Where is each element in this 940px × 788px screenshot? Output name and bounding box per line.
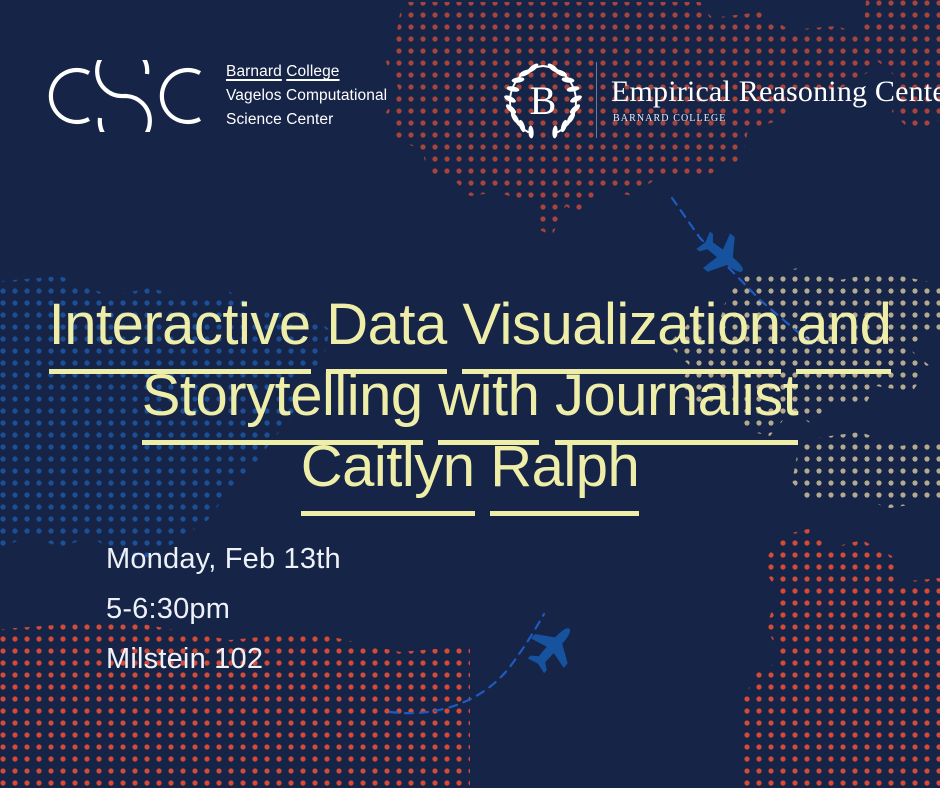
- erc-logo: B Empirical Reasoning Center BARNARD COL…: [500, 57, 940, 143]
- erc-text-block: Empirical Reasoning Center BARNARD COLLE…: [611, 75, 940, 125]
- headline-line-1: Interactive Data Visualization and: [0, 292, 940, 363]
- headline-word: Storytelling: [142, 363, 423, 445]
- event-poster: Barnard College Vagelos Computational Sc…: [0, 0, 940, 788]
- erc-subtitle: BARNARD COLLEGE: [613, 113, 940, 125]
- headline-word: Journalist: [555, 363, 798, 445]
- headline-word: Data: [326, 292, 447, 374]
- erc-title: Empirical Reasoning Center: [611, 75, 940, 109]
- csc-barnard-word: Barnard: [226, 63, 282, 80]
- csc-barnard-college-line: Barnard College: [226, 62, 387, 82]
- csc-logo: Barnard College Vagelos Computational Sc…: [34, 60, 387, 132]
- headline-word: Ralph: [490, 434, 639, 516]
- event-details: Monday, Feb 13th 5-6:30pm Milstein 102: [106, 534, 341, 684]
- poster-header: Barnard College Vagelos Computational Sc…: [0, 0, 940, 160]
- headline-word: and: [796, 292, 891, 374]
- csc-name-line-1: Vagelos Computational: [226, 85, 387, 106]
- event-time: 5-6:30pm: [106, 584, 341, 634]
- csc-wordmark: Barnard College Vagelos Computational Sc…: [226, 62, 387, 130]
- airplane-lower: [520, 614, 586, 681]
- erc-monogram-letter: B: [530, 78, 557, 123]
- headline-word: Visualization: [462, 292, 780, 374]
- laurel-wreath-icon: B: [500, 57, 586, 143]
- flight-path-lower: [390, 614, 544, 713]
- headline-word: with: [438, 363, 539, 445]
- erc-divider: [596, 62, 597, 138]
- csc-college-word: College: [286, 63, 339, 80]
- headline-word: Caitlyn: [301, 434, 475, 516]
- airplane-upper: [690, 223, 756, 288]
- csc-name-line-2: Science Center: [226, 109, 387, 130]
- headline-word: Interactive: [49, 292, 311, 374]
- csc-monogram-icon: [34, 60, 206, 132]
- page-title: Interactive Data Visualization and Story…: [0, 292, 940, 505]
- event-location: Milstein 102: [106, 634, 341, 684]
- event-date: Monday, Feb 13th: [106, 534, 341, 584]
